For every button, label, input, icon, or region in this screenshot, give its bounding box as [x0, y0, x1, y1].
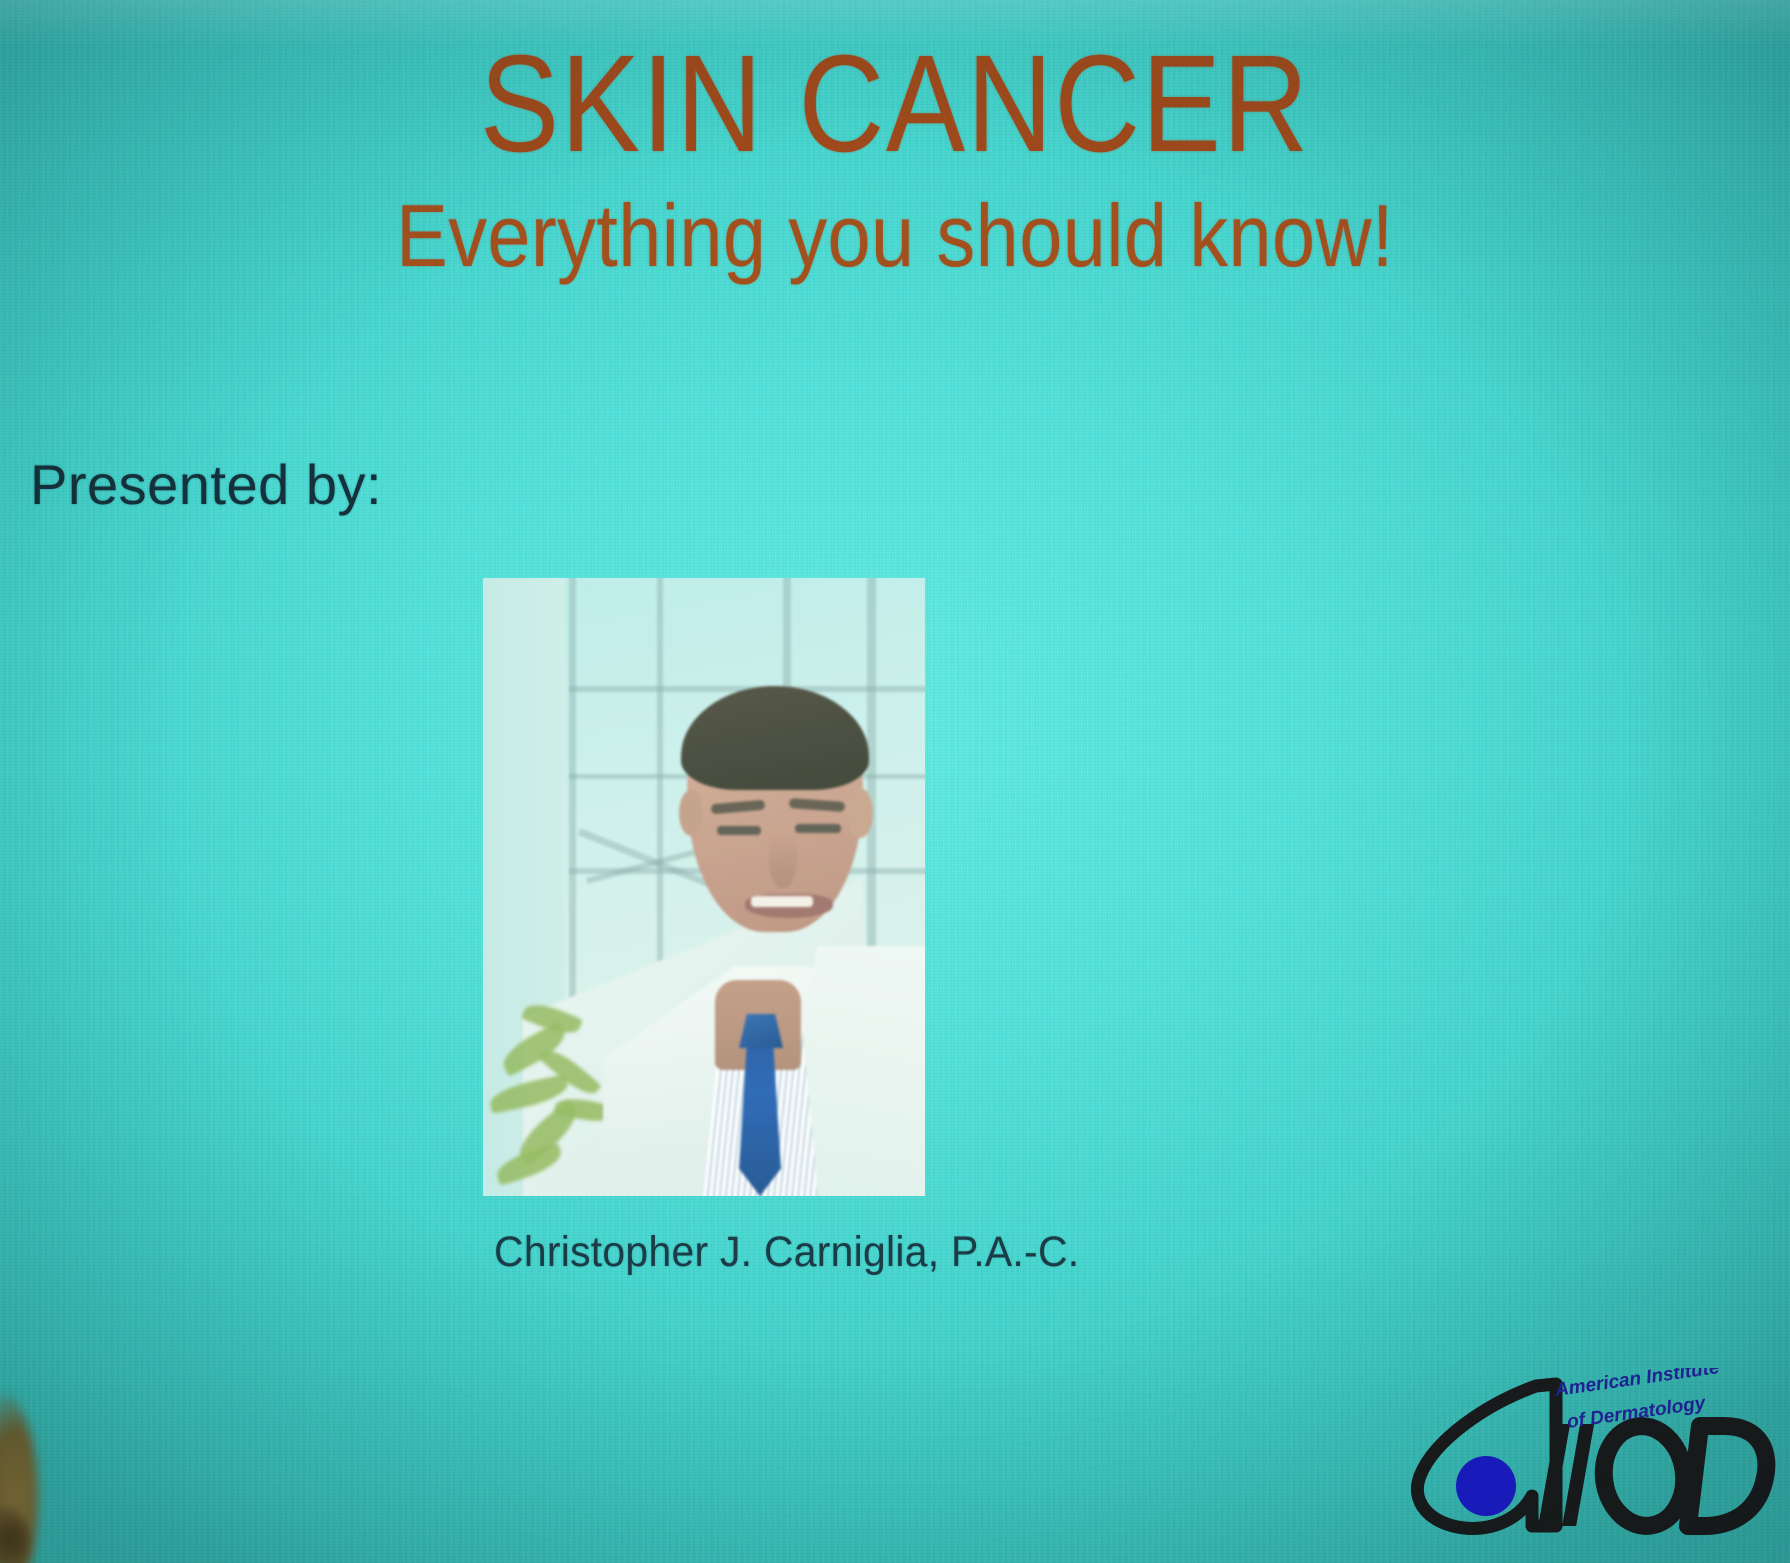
page-title: SKIN CANCER	[125, 34, 1664, 175]
presenter-photo	[483, 578, 925, 1196]
logo-blue-dot	[1456, 1456, 1516, 1516]
page-subtitle: Everything you should know!	[107, 190, 1682, 282]
aiod-logo: American Institute of Dermatology	[1408, 1368, 1778, 1558]
photo-eye-right	[795, 824, 841, 833]
logo-letters	[1538, 1421, 1766, 1531]
presentation-slide: SKIN CANCER Everything you should know! …	[0, 0, 1790, 1563]
photo-eye-left	[717, 826, 761, 835]
photo-mouth	[745, 894, 833, 918]
presenter-name-caption: Christopher J. Carniglia, P.A.-C.	[494, 1228, 914, 1277]
presenter-photo-content	[483, 578, 925, 1196]
slide-content: SKIN CANCER Everything you should know! …	[0, 0, 1790, 1563]
presented-by-label: Presented by:	[30, 452, 382, 517]
photo-teeth	[751, 896, 813, 907]
photo-nose	[769, 834, 797, 888]
photo-ear-left	[679, 790, 703, 836]
photo-ear-right	[847, 788, 873, 838]
